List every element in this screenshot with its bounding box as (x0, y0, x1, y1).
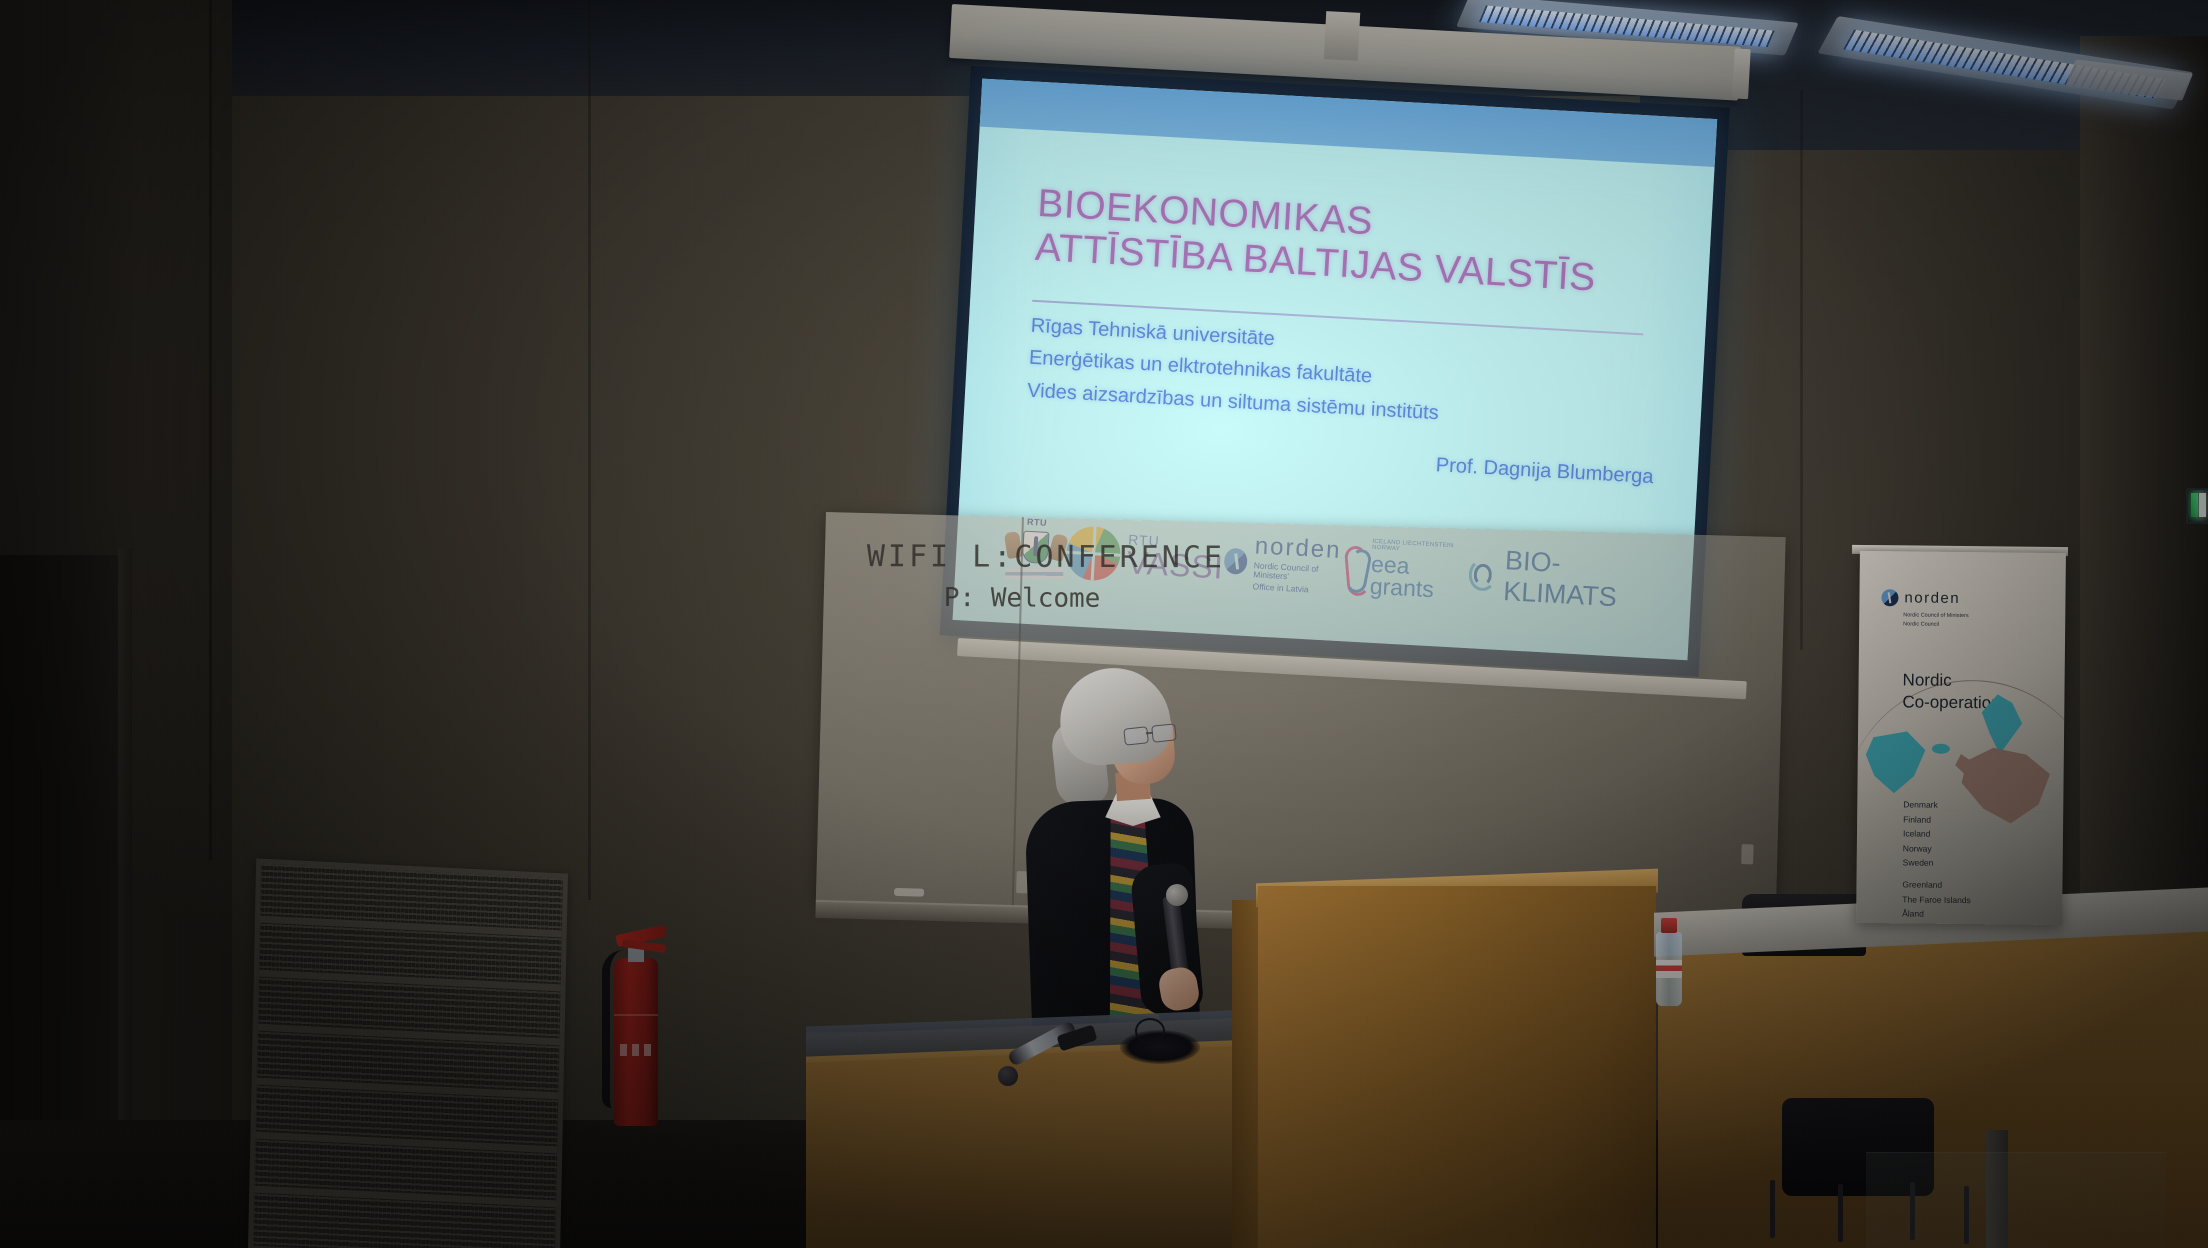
banner-logo-sub-line-1: Nordic Council of Ministers (1903, 611, 1969, 620)
wooden-lectern (1258, 886, 1656, 1248)
whiteboard-handwriting: WIFI L:CONFERENCE P: Welcome (865, 535, 1225, 617)
glass-partition (1866, 1152, 2166, 1248)
whiteboard: WIFI L:CONFERENCE P: Welcome (816, 512, 1786, 927)
banner-country-0: Denmark (1903, 797, 1972, 812)
front-table (806, 1032, 1254, 1248)
wall-seam (1800, 90, 1803, 650)
banner-country-list: Denmark Finland Iceland Norway Sweden Gr… (1902, 797, 1972, 922)
map-greenland (1865, 731, 1928, 794)
roll-up-banner: norden Nordic Council of Ministers Nordi… (1856, 551, 2066, 925)
norden-swan-icon (1881, 589, 1898, 606)
slide-author: Prof. Dagnija Blumberga (1024, 432, 1698, 492)
map-scandinavia (1976, 694, 2023, 754)
whiteboard-marker[interactable] (894, 888, 924, 897)
wall-seam (588, 0, 591, 900)
banner-logo-sub-line-2: Nordic Council (1903, 620, 1969, 629)
water-bottle[interactable] (1656, 918, 1682, 1006)
banner-country-2: Iceland (1903, 827, 1972, 842)
banner-country-3: Norway (1903, 841, 1972, 856)
table-microphone-head (998, 1066, 1018, 1086)
banner-norden-logo: norden (1881, 589, 1960, 607)
extinguisher-label (620, 1044, 652, 1056)
screen-housing-endcap (1732, 48, 1751, 99)
banner-logo-subtext: Nordic Council of Ministers Nordic Counc… (1903, 611, 1969, 629)
wall-seam (209, 0, 212, 860)
lecture-hall-photo: BIOEKONOMIKAS ATTĪSTĪBA BALTIJAS VALSTĪS… (0, 0, 2208, 1248)
wall-socket (1741, 844, 1754, 864)
whiteboard-line-2: P: Welcome (944, 583, 1224, 614)
banner-norden-wordmark: norden (1904, 589, 1960, 607)
banner-country-4: Sweden (1903, 856, 1972, 871)
banner-country-6: The Faroe Islands (1902, 892, 1971, 907)
ventilation-grille (248, 858, 568, 1248)
map-europe (1961, 746, 2054, 827)
fire-extinguisher (602, 918, 666, 1128)
banner-country-7: Åland (1902, 907, 1971, 922)
whiteboard-line-1: WIFI L:CONFERENCE (867, 539, 1225, 575)
map-iceland (1932, 744, 1950, 754)
screen-mount-bracket (1324, 11, 1360, 61)
speaker-hair (1057, 664, 1173, 767)
cable-loop (1135, 1018, 1165, 1044)
slide-title: BIOEKONOMIKAS ATTĪSTĪBA BALTIJAS VALSTĪS (1034, 182, 1668, 305)
extinguisher-body (614, 958, 658, 1126)
banner-country-5: Greenland (1902, 877, 1971, 892)
banner-country-1: Finland (1903, 812, 1972, 827)
exit-sign (2186, 488, 2208, 524)
